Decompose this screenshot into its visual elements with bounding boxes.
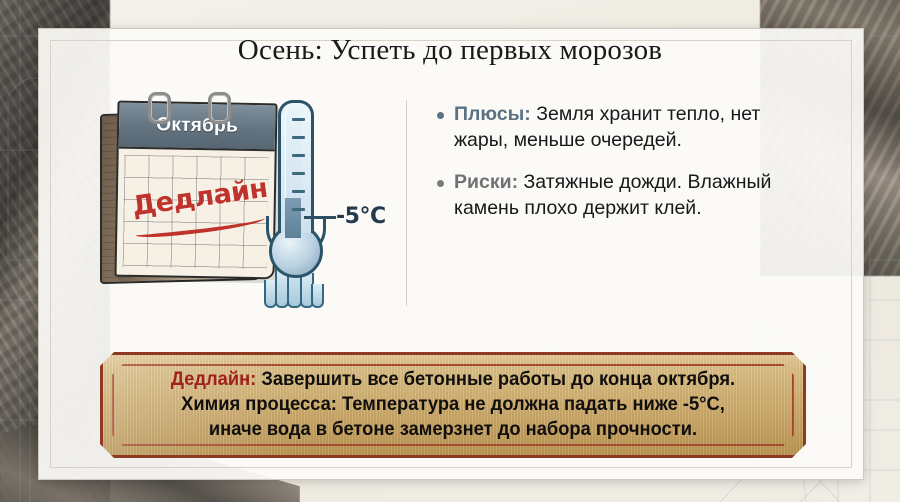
thermometer-illustration: -5°C — [248, 92, 398, 310]
thermometer-ticks — [292, 118, 308, 226]
plaque-line-1: Дедлайн: Завершить все бетонные работы д… — [141, 367, 765, 392]
plaque-deadline-text: Завершить все бетонные работы до конца о… — [256, 368, 735, 390]
bullet-text: Риски: Затяжные дожди. Влажный камень пл… — [454, 170, 802, 221]
thermometer-pointer-line — [304, 216, 336, 219]
binder-ring-icon — [208, 92, 231, 124]
bullet-list: Плюсы: Земля хранит тепло, нет жары, мен… — [407, 92, 802, 239]
illustrations-group: Октябрь Дедлайн — [22, 92, 400, 322]
bullet-label-risks: Риски: — [454, 171, 518, 193]
thermometer-reading-label: -5°C — [336, 204, 386, 229]
plaque-line-2: Химия процесса: Температура не должна па… — [141, 392, 765, 417]
bullet-dot-icon — [437, 112, 444, 119]
list-item: Плюсы: Земля хранит тепло, нет жары, мен… — [437, 102, 802, 153]
content-row: Октябрь Дедлайн — [22, 92, 802, 322]
bullet-text: Плюсы: Земля хранит тепло, нет жары, мен… — [454, 102, 802, 153]
page-title: Осень: Успеть до первых морозов — [0, 34, 900, 67]
brass-plaque: Дедлайн: Завершить все бетонные работы д… — [100, 352, 806, 458]
bullet-label-pros: Плюсы: — [454, 103, 531, 125]
plaque-line-3: иначе вода в бетоне замерзнет до набора … — [141, 417, 765, 442]
plaque-chemistry-text: Температура не должна падать ниже -5°C, — [337, 393, 725, 415]
plaque-chemistry-label: Химия процесса: — [181, 393, 337, 415]
slide-root: Осень: Успеть до первых морозов Октябрь … — [0, 0, 900, 502]
plaque-deadline-label: Дедлайн: — [171, 368, 256, 390]
binder-ring-icon — [148, 92, 171, 124]
list-item: Риски: Затяжные дожди. Влажный камень пл… — [437, 170, 802, 221]
plaque-text-block: Дедлайн: Завершить все бетонные работы д… — [141, 367, 765, 442]
bullet-dot-icon — [437, 180, 444, 187]
